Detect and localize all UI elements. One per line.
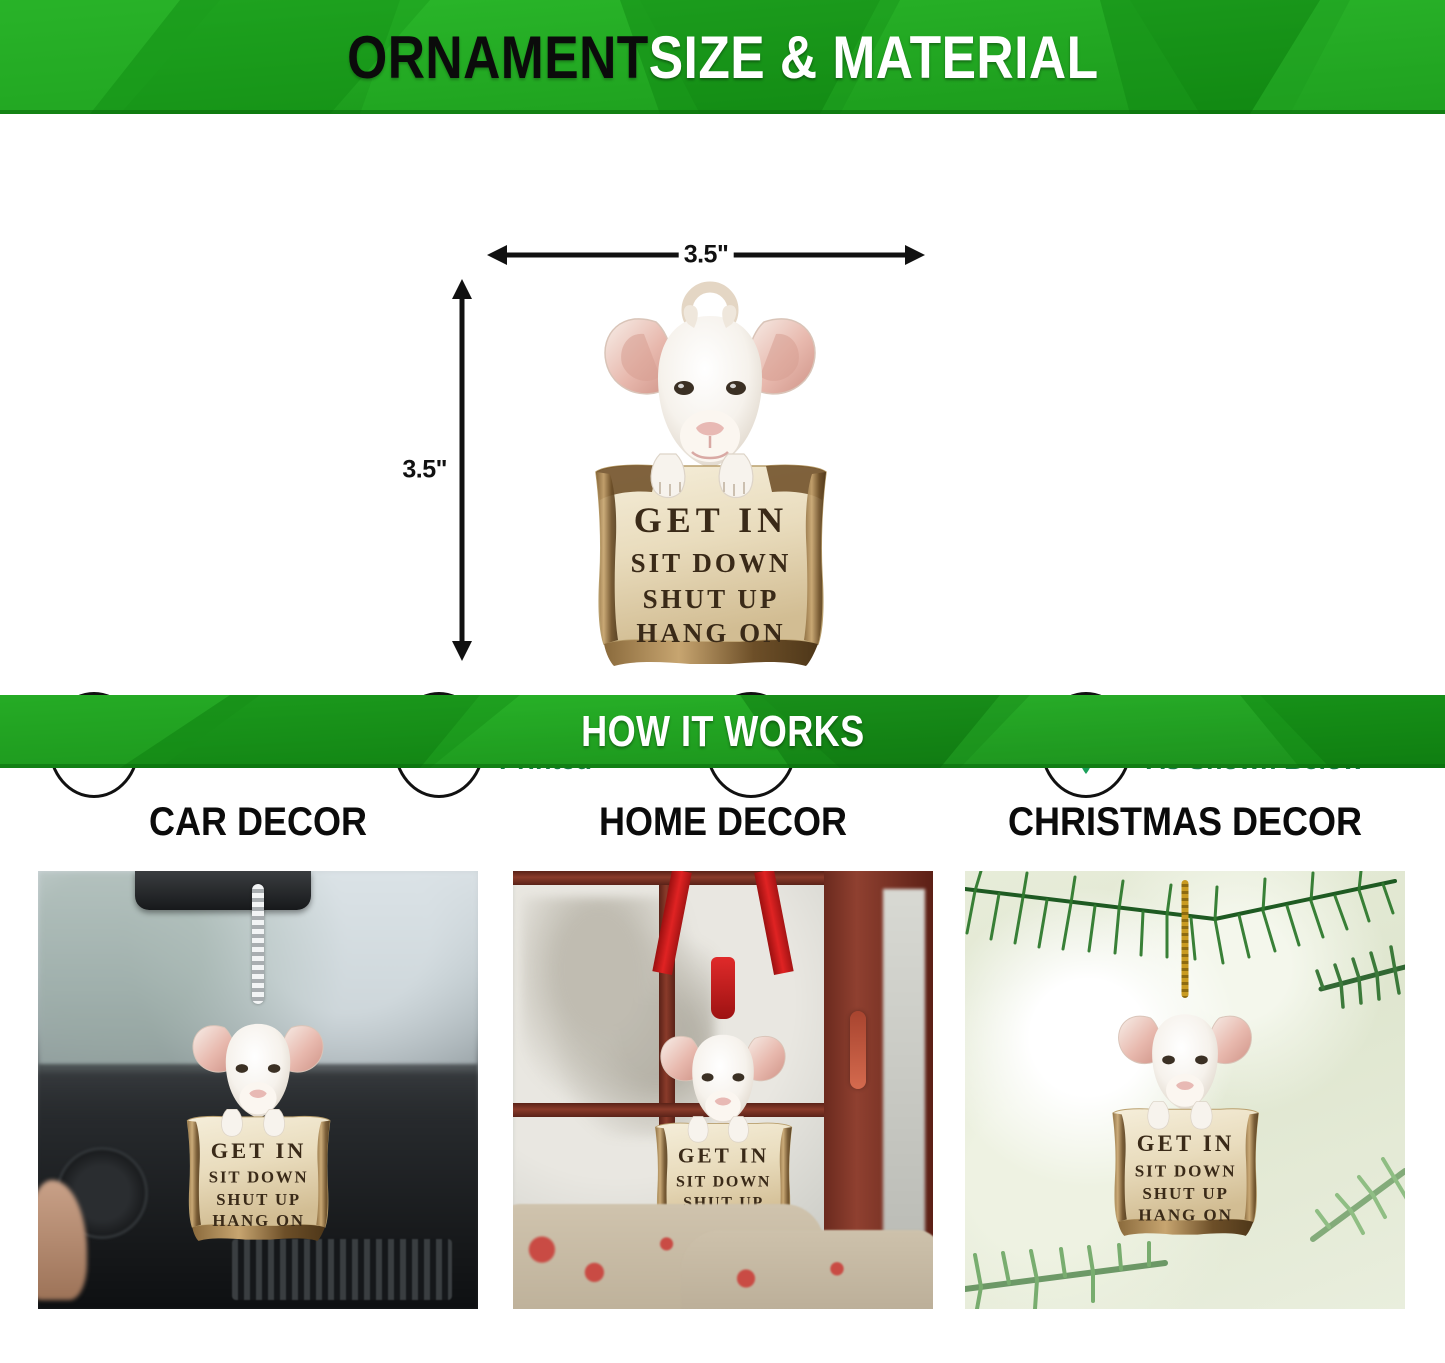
usecase-photo: GET IN SIT DOWN SHUT UP HANG ON xyxy=(965,871,1405,1309)
width-dimension-arrow: 3.5" xyxy=(487,246,925,264)
svg-text:GET IN: GET IN xyxy=(211,1138,307,1163)
how-it-works-title: HOW IT WORKS xyxy=(581,707,865,757)
scroll-line-2: SIT DOWN xyxy=(631,548,792,578)
header-banner: ORNAMENTSIZE & MATERIAL xyxy=(0,0,1445,114)
how-it-works-banner: HOW IT WORKS xyxy=(0,695,1445,768)
svg-text:HANG ON: HANG ON xyxy=(1138,1206,1232,1225)
arrow-head-right-icon xyxy=(905,245,925,265)
goat-scroll-ornament-icon: GET IN SIT DOWN SHUT UP HANG ON xyxy=(560,276,860,671)
svg-text:SIT DOWN: SIT DOWN xyxy=(676,1173,771,1190)
svg-text:HANG ON: HANG ON xyxy=(212,1211,305,1230)
christmas-pillow-right xyxy=(681,1230,933,1309)
use-cases-section: CAR DECOR xyxy=(0,800,1445,1363)
usecase-photo: GET IN SIT DOWN SHUT UP HANG ON xyxy=(513,871,933,1309)
ribbon-strand-left xyxy=(652,871,691,975)
height-label: 3.5" xyxy=(400,453,449,488)
size-and-material-section: 3.5" 3.5" xyxy=(0,114,1445,685)
svg-text:SHUT UP: SHUT UP xyxy=(1142,1184,1229,1203)
door-glass xyxy=(883,889,925,1274)
usecase-title: CHRISTMAS DECOR xyxy=(987,800,1383,845)
usecase-title: CAR DECOR xyxy=(60,800,456,845)
ribbon-strand-right xyxy=(754,871,793,975)
dimension-line xyxy=(460,295,465,645)
header-title: ORNAMENTSIZE & MATERIAL xyxy=(347,23,1098,92)
header-title-part1: ORNAMENT xyxy=(347,24,649,91)
usecase-car-decor: CAR DECOR xyxy=(38,800,478,1309)
goat-eye-left xyxy=(674,381,694,395)
hanging-ornament: GET IN SIT DOWN SHUT UP HANG ON xyxy=(1090,989,1280,1244)
hanging-ornament: GET IN SIT DOWN SHUT UP HANG ON xyxy=(165,999,351,1249)
svg-text:SIT DOWN: SIT DOWN xyxy=(209,1168,309,1187)
red-ribbon-lanyard xyxy=(658,871,788,991)
goat-scroll-ornament-icon: GET IN SIT DOWN SHUT UP HANG ON xyxy=(1090,989,1280,1239)
window-handle xyxy=(850,1011,866,1089)
ribbon-knot xyxy=(711,957,735,1019)
header-title-part2: SIZE & MATERIAL xyxy=(648,24,1098,91)
svg-text:SHUT UP: SHUT UP xyxy=(216,1190,301,1209)
scroll-line-1: GET IN xyxy=(634,500,788,540)
svg-text:SIT DOWN: SIT DOWN xyxy=(1135,1161,1237,1180)
usecase-title: HOME DECOR xyxy=(534,800,912,845)
rearview-mirror xyxy=(135,871,311,910)
arrow-head-down-icon xyxy=(452,641,472,661)
width-label: 3.5" xyxy=(679,241,734,270)
scroll-line-3: SHUT UP xyxy=(643,584,780,614)
goat-scroll-ornament-icon: GET IN SIT DOWN SHUT UP HANG ON xyxy=(165,999,351,1244)
scroll-text-group: GET IN SIT DOWN SHUT UP HANG ON xyxy=(631,500,792,648)
usecase-christmas-decor: CHRISTMAS DECOR xyxy=(965,800,1405,1309)
gold-cord-lanyard xyxy=(1182,880,1189,998)
svg-text:GET IN: GET IN xyxy=(1137,1131,1235,1156)
height-dimension-arrow: 3.5" xyxy=(453,279,471,661)
svg-text:GET IN: GET IN xyxy=(678,1144,769,1168)
silver-bead-chain-lanyard xyxy=(252,884,264,1004)
scroll-line-4: HANG ON xyxy=(636,618,785,648)
goat-eye-right xyxy=(726,381,746,395)
product-ornament-image: GET IN SIT DOWN SHUT UP HANG ON xyxy=(560,276,860,671)
usecase-photo: GET IN SIT DOWN SHUT UP HANG ON xyxy=(38,871,478,1309)
usecase-home-decor: HOME DECOR xyxy=(513,800,933,1309)
